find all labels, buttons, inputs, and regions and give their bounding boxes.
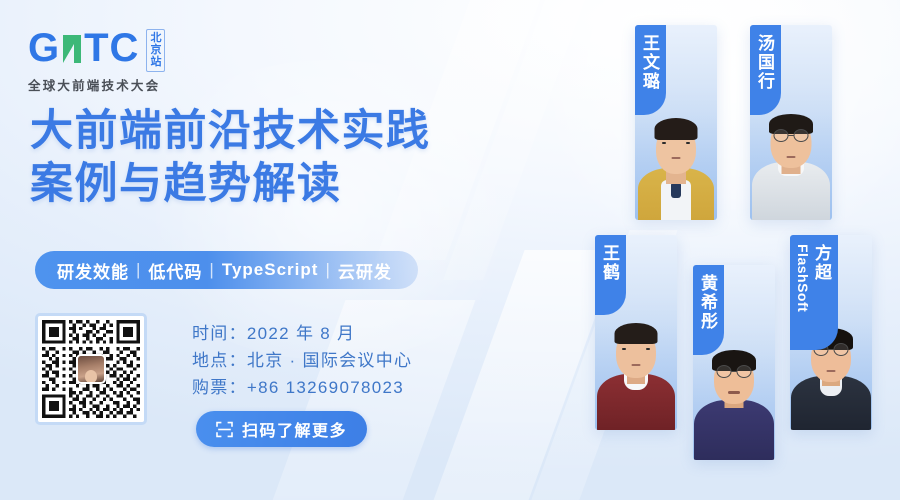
speaker-name-tag: 黄希彤: [693, 265, 724, 355]
brand-logo: G TC 北 京 站 全球大前端技术大会: [28, 28, 165, 94]
headline-line-2: 案例与趋势解读: [30, 158, 431, 211]
info-row: 购票：+86 13269078023: [192, 374, 412, 401]
info-value: 北京 · 国际会议中心: [247, 351, 412, 370]
keyword-separator: |: [136, 260, 141, 280]
speaker-card[interactable]: 方超 FlashSoft: [790, 235, 872, 430]
speaker-tie: [671, 182, 681, 198]
conference-banner: G TC 北 京 站 全球大前端技术大会 大前端前沿技术实践 案例与趋势解读 研…: [0, 0, 900, 500]
speaker-card[interactable]: 王鹤: [595, 235, 677, 430]
qr-code[interactable]: [35, 313, 147, 425]
page-title: 大前端前沿技术实践 案例与趋势解读: [30, 105, 431, 211]
speaker-card[interactable]: 汤国行: [750, 25, 832, 220]
logo-subtitle: 全球大前端技术大会: [28, 75, 165, 94]
info-label: 时间：: [192, 324, 247, 343]
speaker-name: 王文璐: [640, 34, 659, 91]
info-row: 地点：北京 · 国际会议中心: [192, 347, 412, 374]
city-badge-char-3: 站: [150, 56, 161, 68]
info-row: 时间：2022 年 8 月: [192, 320, 412, 347]
keyword-pill: 研发效能 | 低代码 | TypeScript | 云研发: [35, 251, 418, 289]
speaker-torso: [694, 400, 774, 460]
green-arrow-glyph: [61, 33, 83, 63]
scan-more-label: 扫码了解更多: [242, 417, 347, 441]
keyword-item-3: 云研发: [338, 258, 392, 283]
city-badge: 北 京 站: [146, 29, 165, 72]
background-chevron: [415, 250, 619, 500]
speaker-hair: [655, 118, 698, 140]
info-value: 2022 年 8 月: [247, 324, 355, 343]
speaker-org: FlashSoft: [795, 244, 811, 312]
avatar: [76, 354, 106, 384]
info-value: +86 13269078023: [247, 378, 404, 397]
speaker-name-tag: 王鹤: [595, 235, 626, 315]
city-badge-char-2: 京: [150, 44, 161, 56]
speaker-name-tag: 汤国行: [750, 25, 781, 115]
city-badge-char-1: 北: [150, 32, 161, 44]
event-info: 时间：2022 年 8 月 地点：北京 · 国际会议中心 购票：+86 1326…: [192, 320, 412, 401]
keyword-separator: |: [209, 260, 214, 280]
glasses-icon: [774, 129, 809, 142]
speaker-name: 王鹤: [600, 244, 619, 282]
scan-frame-icon: [216, 421, 233, 438]
speaker-gallery: 王文璐 汤国行: [600, 0, 900, 500]
headline-line-1: 大前端前沿技术实践: [30, 105, 431, 158]
info-label: 购票：: [192, 378, 247, 397]
speaker-name-tag: 王文璐: [635, 25, 666, 115]
keyword-separator: |: [325, 260, 330, 280]
speaker-card[interactable]: 黄希彤: [693, 265, 775, 460]
background-chevron: [443, 0, 607, 280]
speaker-name: 黄希彤: [698, 274, 717, 331]
keyword-item-0: 研发效能: [57, 258, 129, 283]
speaker-name: 汤国行: [755, 34, 774, 91]
scan-more-button[interactable]: 扫码了解更多: [196, 411, 367, 447]
info-label: 地点：: [192, 351, 247, 370]
keyword-item-2: TypeScript: [222, 260, 319, 280]
speaker-card[interactable]: 王文璐: [635, 25, 717, 220]
keyword-item-1: 低代码: [148, 258, 202, 283]
logo-letters-tc: TC: [84, 28, 139, 68]
logo-wordmark: G TC: [28, 28, 139, 68]
logo-letter-g: G: [28, 28, 60, 68]
speaker-name: 方超: [812, 244, 831, 282]
speaker-name-tag: 方超 FlashSoft: [790, 235, 838, 350]
glasses-icon: [717, 365, 752, 378]
speaker-hair: [615, 323, 658, 344]
